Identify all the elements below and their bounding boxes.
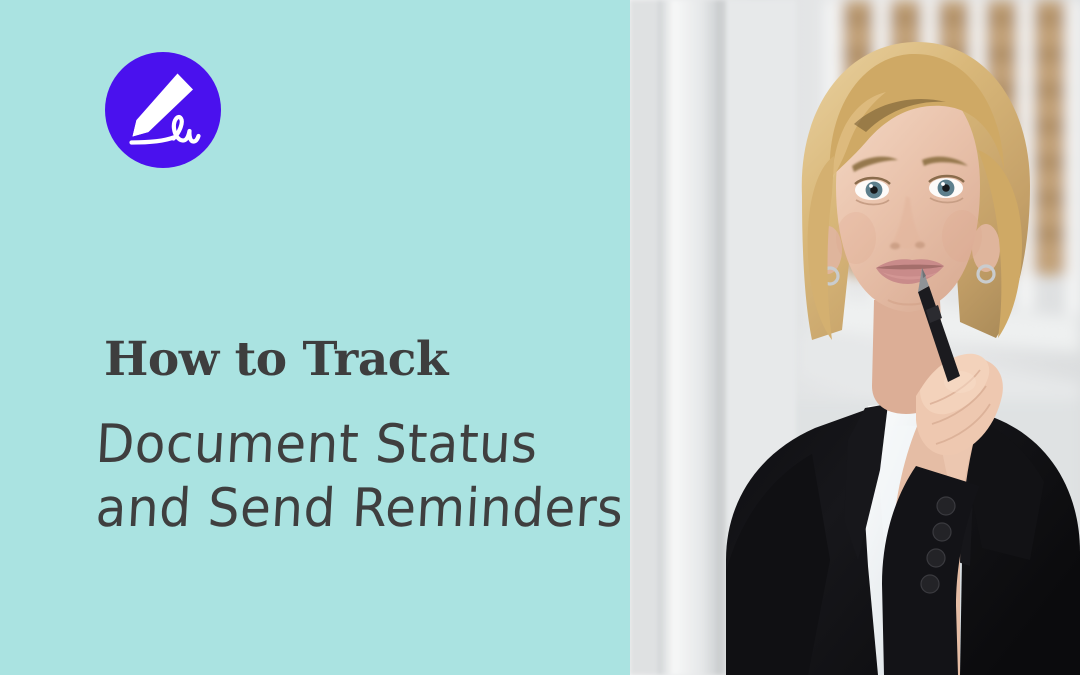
pandadoc-signature-logo	[105, 52, 221, 168]
subtitle-line-2: and Send Reminders	[94, 474, 630, 542]
cheek-right	[942, 210, 982, 262]
hero-photo-svg	[630, 0, 1080, 675]
logo-svg	[105, 52, 221, 168]
left-content-panel: How to Track Document Status and Send Re…	[0, 0, 630, 675]
presentation-slide: How to Track Document Status and Send Re…	[0, 0, 1080, 675]
cheek-left	[836, 212, 876, 264]
subtitle-line-1: Document Status	[94, 410, 630, 478]
hero-photo	[630, 0, 1080, 675]
subtitle-block: Document Status and Send Reminders	[96, 412, 630, 540]
page-title: How to Track	[104, 336, 624, 383]
